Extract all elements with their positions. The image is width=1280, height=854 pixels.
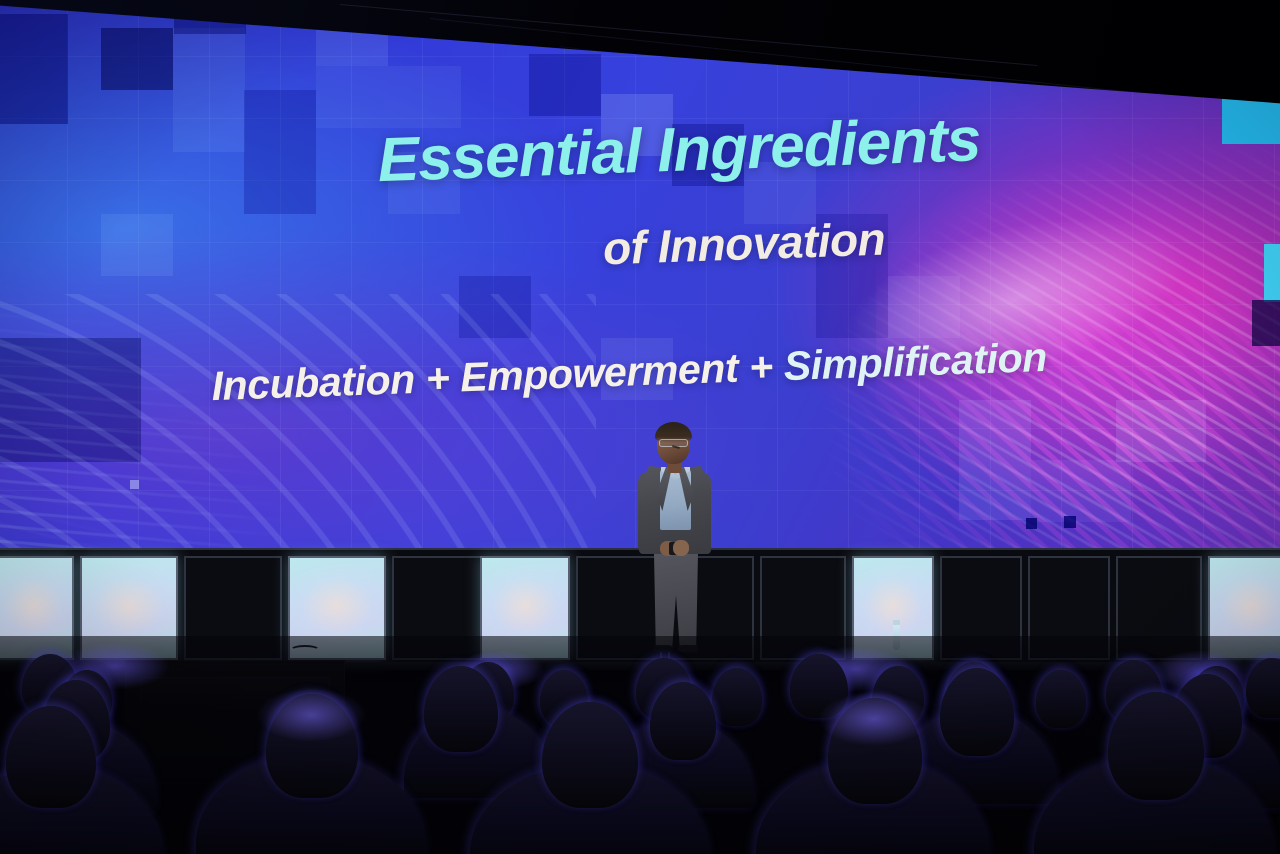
formula-term-incubation: Incubation	[211, 356, 416, 409]
speaker-right-hand	[673, 540, 689, 556]
audience-rim-light	[256, 688, 366, 742]
audience-area	[0, 636, 1280, 854]
audience-head	[940, 668, 1014, 756]
audience-head	[1246, 658, 1280, 718]
formula-plus-operator: +	[425, 355, 450, 402]
speaker-trousers	[652, 549, 700, 649]
formula-term-simplification: Simplification	[783, 334, 1048, 389]
water-bottle-cap	[893, 620, 900, 625]
audience-head	[542, 702, 638, 808]
slide-subheadline: of Innovation	[602, 212, 886, 276]
keynote-speaker	[628, 424, 720, 652]
slide-headline: Essential Ingredients	[377, 107, 1079, 192]
audience-head	[650, 682, 716, 760]
audience-head	[712, 668, 762, 726]
audience-rim-light	[818, 692, 930, 746]
formula-term-empowerment: Empowerment	[459, 345, 739, 401]
audience-head	[1036, 670, 1086, 728]
formula-plus-operator: +	[748, 344, 773, 391]
stage-scene: Essential Ingredients of Innovation Incu…	[0, 0, 1280, 854]
slide-formula: Incubation + Empowerment + Simplificatio…	[211, 334, 1048, 410]
